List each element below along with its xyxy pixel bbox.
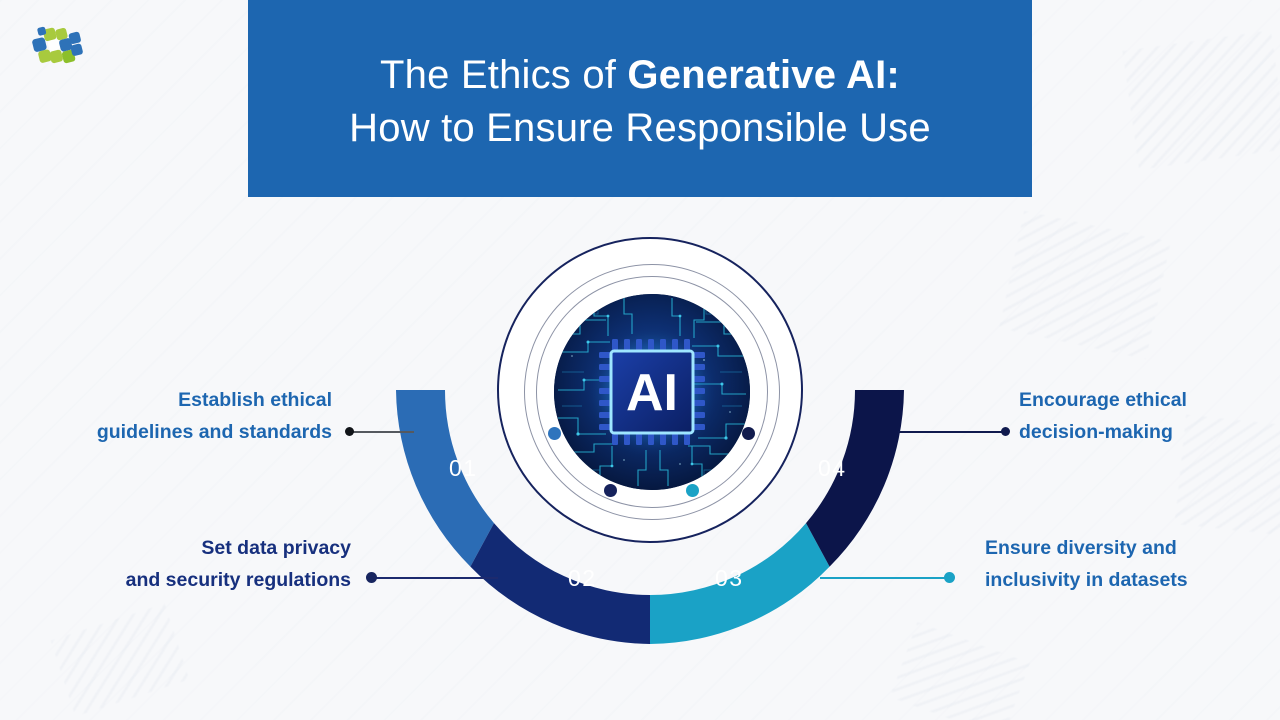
- company-logo: [28, 20, 86, 74]
- callout-03[interactable]: Ensure diversity and inclusivity in data…: [985, 533, 1275, 596]
- connector-line-01: [352, 431, 414, 433]
- title-banner: The Ethics of Generative AI: How to Ensu…: [248, 0, 1032, 197]
- center-ai-badge: AI: [497, 237, 803, 543]
- ring-dot-02: [604, 484, 617, 497]
- callout-02[interactable]: Set data privacy and security regulation…: [0, 533, 351, 596]
- ai-chip-image: AI: [554, 294, 750, 490]
- callout-01-line-2: guidelines and standards: [0, 417, 332, 449]
- slide-canvas: The Ethics of Generative AI: How to Ensu…: [0, 0, 1280, 720]
- connector-dot-01: [345, 427, 354, 436]
- ai-chip-text: AI: [626, 364, 678, 422]
- callout-04-line-1: Encourage ethical: [1019, 385, 1275, 417]
- connector-dot-04: [1001, 427, 1010, 436]
- connector-dot-02: [366, 572, 377, 583]
- logo-icon: [28, 20, 86, 74]
- ring-dot-03: [686, 484, 699, 497]
- page-title-line-1: The Ethics of Generative AI:: [380, 49, 900, 102]
- wheel-segment-02[interactable]: [470, 523, 650, 644]
- callout-03-line-1: Ensure diversity and: [985, 533, 1275, 565]
- ring-dot-01: [548, 427, 561, 440]
- page-title-line-2: How to Ensure Responsible Use: [349, 102, 931, 155]
- callout-02-line-1: Set data privacy: [0, 533, 351, 565]
- callout-03-line-2: inclusivity in datasets: [985, 565, 1275, 597]
- callout-02-line-2: and security regulations: [0, 565, 351, 597]
- title-plain-part: The Ethics of: [380, 53, 627, 97]
- connector-dot-03: [944, 572, 955, 583]
- callout-04[interactable]: Encourage ethical decision-making: [1019, 385, 1275, 448]
- title-bold-part: Generative AI:: [627, 53, 900, 97]
- callout-01-line-1: Establish ethical: [0, 385, 332, 417]
- connector-line-02: [374, 577, 498, 579]
- ring-dot-04: [742, 427, 755, 440]
- callout-04-line-2: decision-making: [1019, 417, 1275, 449]
- connector-line-04: [898, 431, 1006, 433]
- connector-line-03: [820, 577, 948, 579]
- segment-number-02: 02: [568, 565, 597, 592]
- segment-number-04: 04: [818, 455, 847, 482]
- segment-number-01: 01: [449, 455, 478, 482]
- segment-number-03: 03: [715, 565, 744, 592]
- callout-01[interactable]: Establish ethical guidelines and standar…: [0, 385, 332, 448]
- wheel-segment-01[interactable]: [396, 390, 494, 567]
